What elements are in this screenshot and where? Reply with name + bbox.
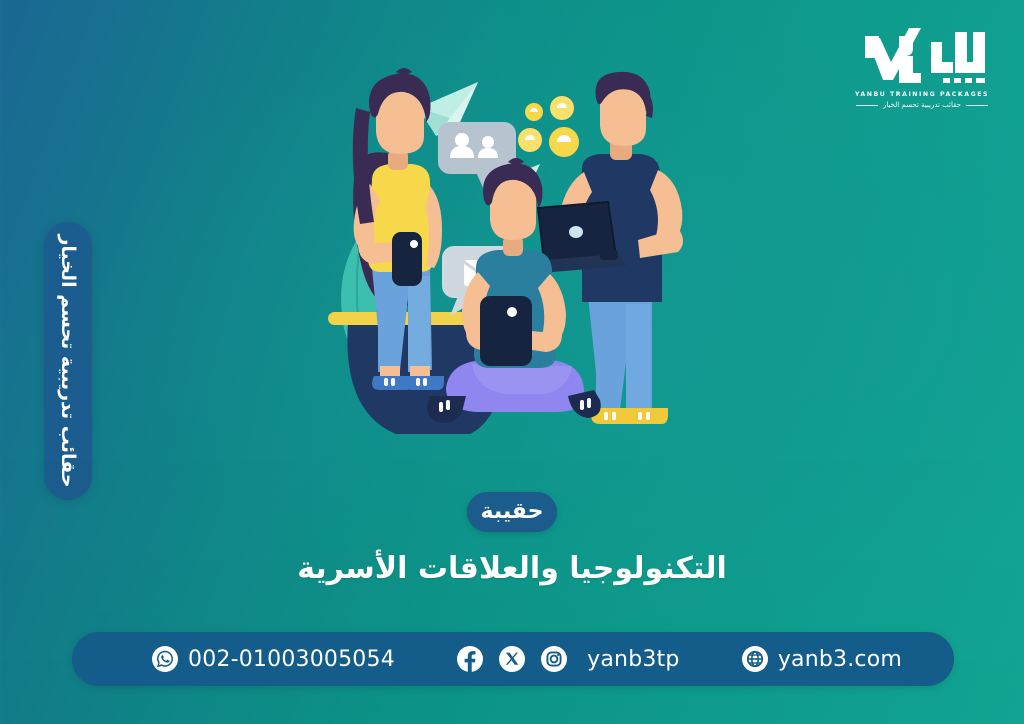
logo-rule-right [856, 105, 878, 106]
contact-footer-bar: 002-01003005054 [72, 632, 954, 686]
poster-canvas: YANBU TRAINING PACKAGES حقائب تدريبية تح… [0, 0, 1024, 724]
package-badge-label: حقيبة [481, 501, 544, 523]
logo-name-en: YANBU TRAINING PACKAGES [842, 91, 1002, 98]
side-tab[interactable]: حقائب تدريبية تحسم الخيار [44, 222, 92, 500]
logo-rule-left [966, 105, 988, 106]
x-twitter-icon[interactable] [499, 646, 525, 672]
instagram-icon[interactable] [541, 646, 567, 672]
logo-name-ar: حقائب تدريبية تحسم الخيار [842, 101, 1002, 109]
yanbu-checkmark-logo-icon [847, 28, 997, 90]
phone-contact[interactable]: 002-01003005054 [152, 646, 395, 672]
globe-icon [742, 646, 768, 672]
facebook-icon[interactable] [457, 646, 483, 672]
illustration-family-technology [300, 60, 720, 480]
website-url: yanb3.com [778, 647, 902, 672]
website-contact[interactable]: yanb3.com [742, 646, 902, 672]
brand-logo[interactable]: YANBU TRAINING PACKAGES حقائب تدريبية تح… [842, 28, 1002, 109]
logo-name-ar-text: حقائب تدريبية تحسم الخيار [883, 101, 961, 109]
package-badge: حقيبة [467, 492, 557, 532]
social-handle: yanb3tp [587, 647, 679, 672]
emoji-reactions-shape [518, 96, 579, 157]
social-contacts[interactable]: yanb3tp [457, 646, 679, 672]
side-tab-label: حقائب تدريبية تحسم الخيار [57, 234, 79, 487]
whatsapp-icon [152, 646, 178, 672]
phone-number: 002-01003005054 [188, 647, 395, 672]
page-title: التكنولوجيا والعلاقات الأسرية [0, 551, 1024, 586]
